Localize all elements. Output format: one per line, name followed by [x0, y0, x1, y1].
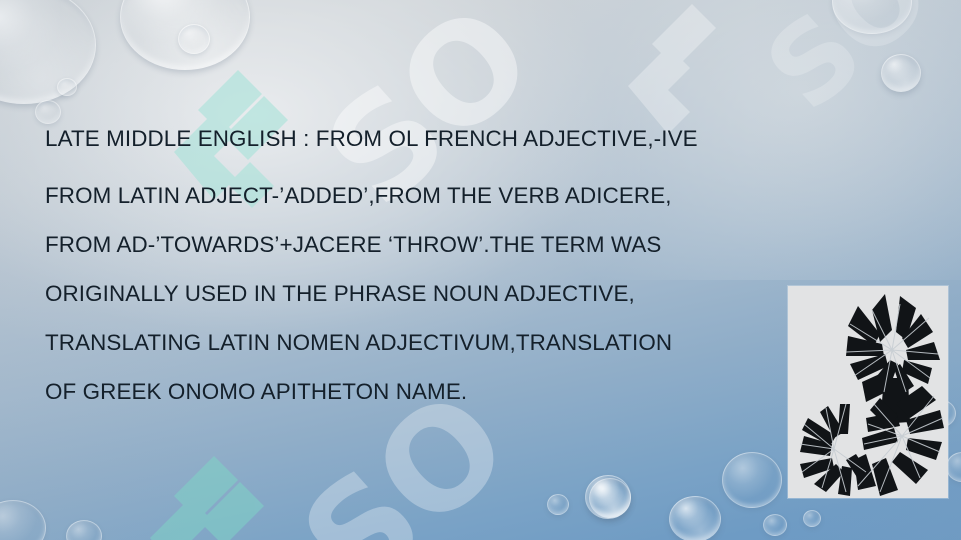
water-droplet-icon [35, 100, 61, 124]
water-droplet-icon [722, 452, 782, 508]
water-droplet-icon [946, 452, 961, 482]
water-droplet-icon [881, 54, 921, 92]
water-droplet-icon [669, 496, 721, 540]
presentation-slide: SO SO SO LATE MIDDLE ENGLISH : FROM OL F… [0, 0, 961, 540]
water-droplet-icon [120, 0, 250, 70]
water-droplet-icon [0, 500, 46, 540]
body-line: FROM AD-’TOWARDS’+JACERE ‘THROW’.THE TER… [45, 220, 875, 269]
water-droplet-icon [57, 78, 77, 96]
body-line: ORIGINALLY USED IN THE PHRASE NOUN ADJEC… [45, 269, 875, 318]
body-line: TRANSLATING LATIN NOMEN ADJECTIVUM,TRANS… [45, 318, 875, 367]
water-droplet-icon [178, 24, 210, 54]
slide-body-text: LATE MIDDLE ENGLISH : FROM OL FRENCH ADJ… [45, 122, 875, 416]
water-droplet-icon [547, 494, 569, 515]
water-droplet-icon [589, 478, 631, 518]
watermark-text: SO [742, 0, 953, 135]
water-droplet-icon [803, 510, 821, 527]
water-droplet-icon [832, 0, 912, 34]
body-line: OF GREEK ONOMO APITHETON NAME. [45, 367, 875, 416]
water-droplet-icon [66, 520, 102, 540]
floral-illustration-image[interactable] [788, 286, 948, 498]
body-line: LATE MIDDLE ENGLISH : FROM OL FRENCH ADJ… [45, 122, 875, 155]
watermark-logo-mark [128, 452, 298, 540]
body-line: FROM LATIN ADJECT-’ADDED’,FROM THE VERB … [45, 171, 875, 220]
water-droplet-icon [585, 475, 631, 519]
water-droplet-icon [763, 514, 787, 536]
water-droplet-icon [0, 0, 96, 104]
